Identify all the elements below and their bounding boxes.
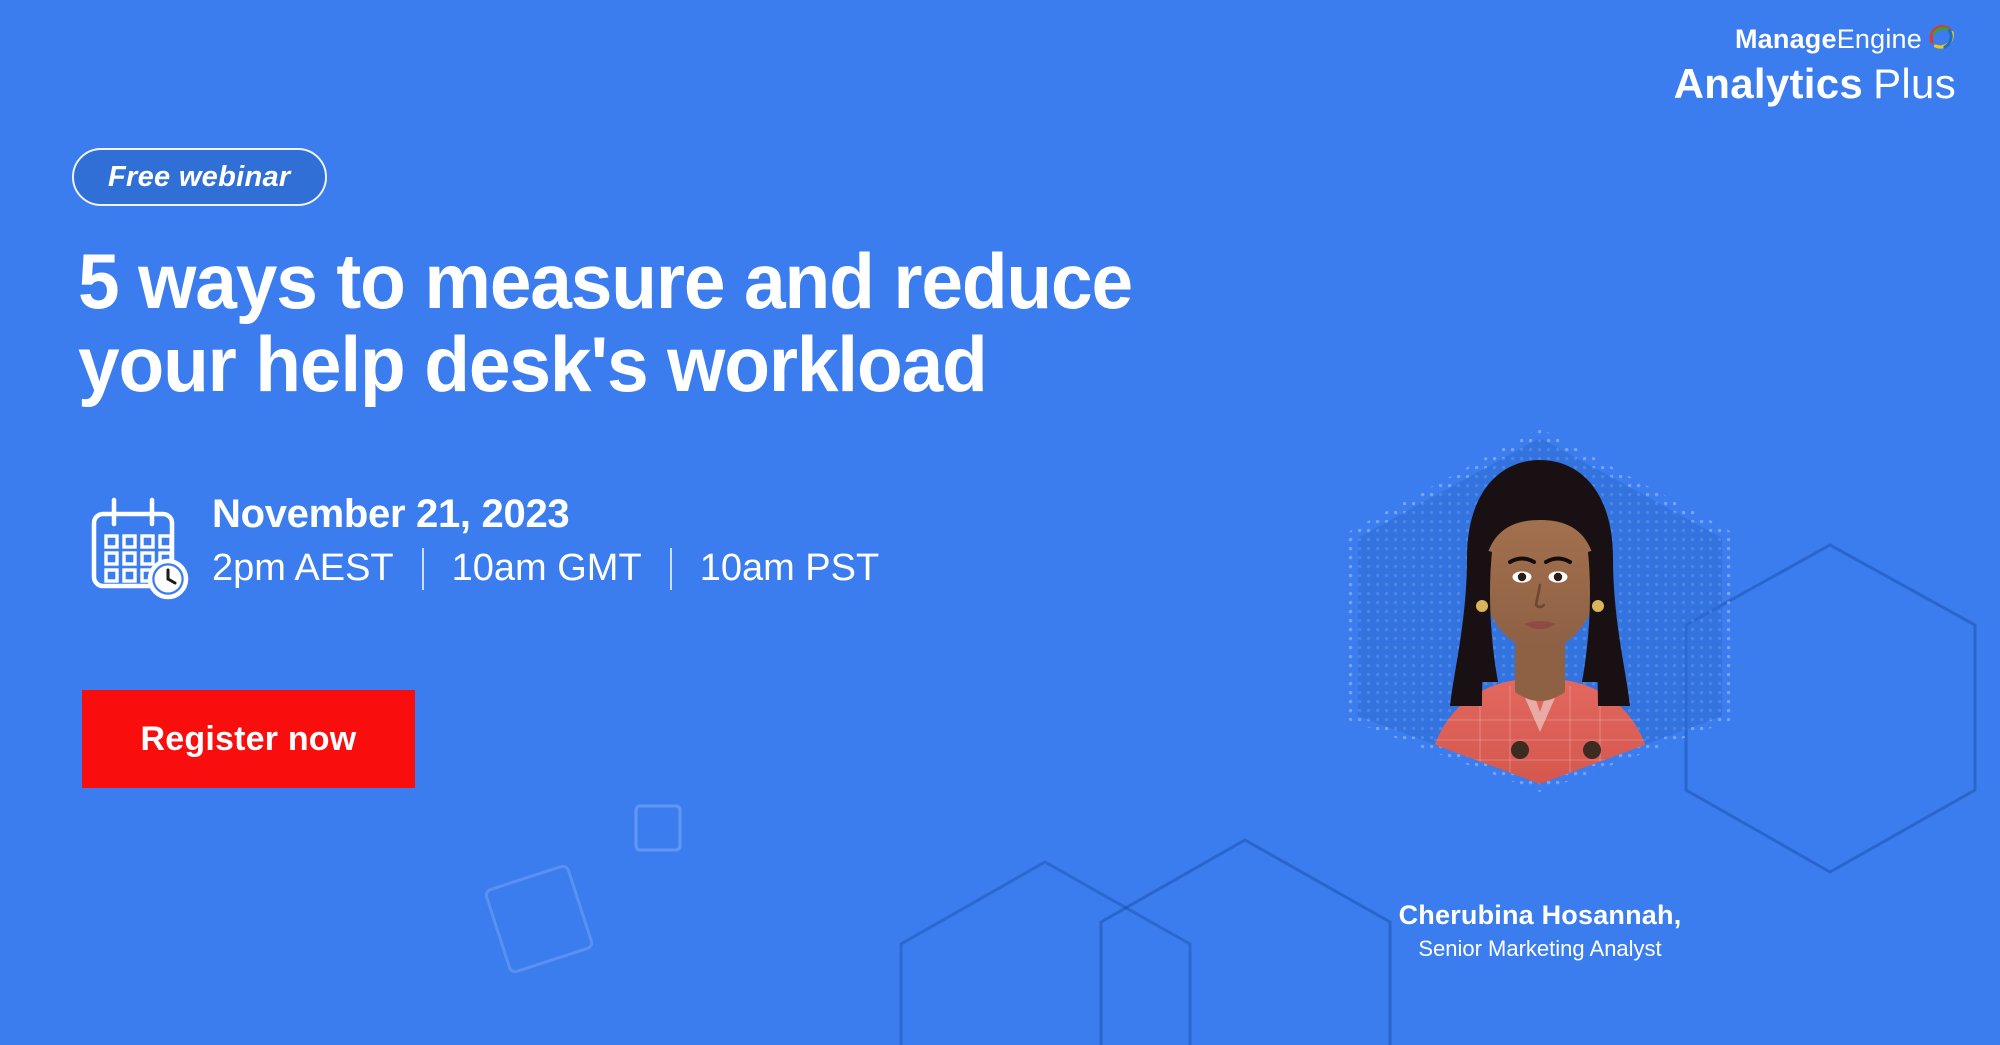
speaker-role: Senior Marketing Analyst [1330,936,1750,962]
logo-analytics-text: Analytics [1674,60,1863,107]
manageengine-logo: ManageEngine AnalyticsPlus [1674,22,1956,105]
logo-engine-text: Engine [1837,26,1922,53]
webinar-date: November 21, 2023 [212,492,879,537]
time-aest: 2pm AEST [212,547,394,590]
time-divider-1 [422,548,424,590]
speaker-name: Cherubina Hosannah, [1330,900,1750,931]
schedule-block: November 21, 2023 2pm AEST 10am GMT 10am… [80,492,879,606]
timezone-row: 2pm AEST 10am GMT 10am PST [212,547,879,590]
time-gmt: 10am GMT [452,547,642,590]
speaker-info: Cherubina Hosannah, Senior Marketing Ana… [1330,900,1750,962]
calendar-clock-icon [80,494,192,606]
headline-line-2: your help desk's workload [78,323,1132,406]
free-webinar-badge: Free webinar [72,148,327,206]
speaker-photo [1330,420,1750,800]
logo-product-line: AnalyticsPlus [1674,63,1956,105]
manageengine-swoosh-icon [1926,22,1956,57]
logo-manage-text: Manage [1735,26,1837,53]
register-now-button[interactable]: Register now [82,690,415,788]
register-now-label: Register now [141,720,357,759]
webinar-banner: ManageEngine AnalyticsPlus Free webinar … [0,0,2000,1045]
logo-brand-line: ManageEngine [1674,22,1956,57]
logo-plus-text: Plus [1873,60,1956,107]
page-title: 5 ways to measure and reduce your help d… [78,240,1132,407]
free-webinar-label: Free webinar [108,161,291,194]
time-pst: 10am PST [700,547,880,590]
time-divider-2 [670,548,672,590]
headline-line-1: 5 ways to measure and reduce [78,240,1132,323]
schedule-text: November 21, 2023 2pm AEST 10am GMT 10am… [212,492,879,590]
